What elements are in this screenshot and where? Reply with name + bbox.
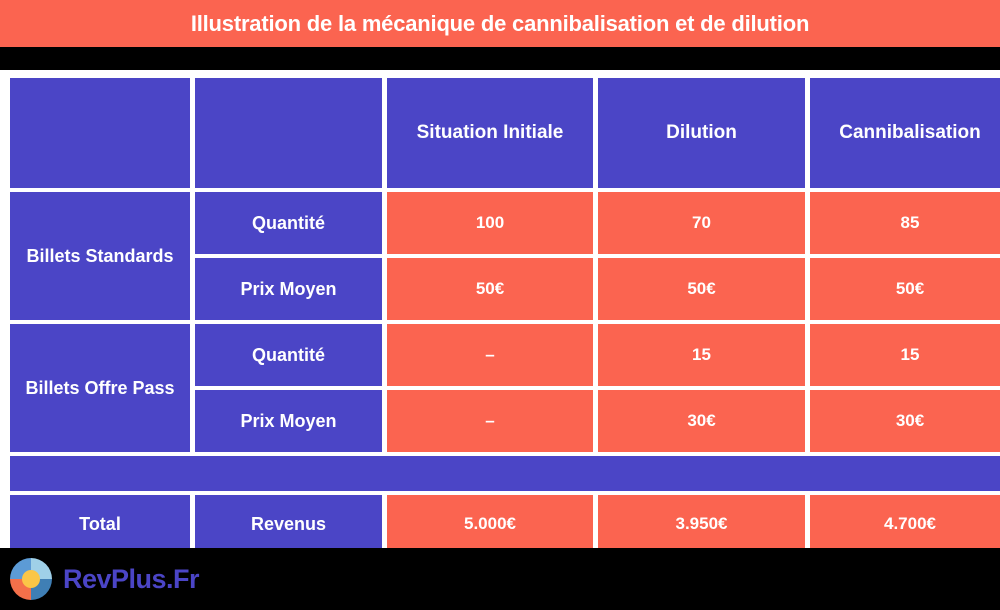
header-situation-initiale: Situation Initiale [387, 78, 593, 188]
header-cannibalisation: Cannibalisation [810, 78, 1000, 188]
page-title: Illustration de la mécanique de cannibal… [191, 11, 809, 37]
value-pass-quantite-dilution: 15 [598, 324, 805, 386]
value-standards-quantite-situation-initiale: 100 [387, 192, 593, 254]
value-standards-prix-dilution: 50€ [598, 258, 805, 320]
metric-label-prix-moyen-pass: Prix Moyen [195, 390, 382, 452]
section-separator-bar [10, 456, 1000, 491]
value-pass-prix-cannibalisation: 30€ [810, 390, 1000, 452]
total-label: Total [10, 495, 190, 553]
pie-chart-logo-icon [10, 558, 52, 600]
page-root: Illustration de la mécanique de cannibal… [0, 0, 1000, 610]
footer-bar: RevPlus.Fr [0, 548, 1000, 610]
metric-label-quantite-standards: Quantité [195, 192, 382, 254]
group-label-billets-standards: Billets Standards [10, 192, 190, 320]
header-corner-b [195, 78, 382, 188]
total-cannibalisation: 4.700€ [810, 495, 1000, 553]
value-pass-prix-dilution: 30€ [598, 390, 805, 452]
value-standards-prix-cannibalisation: 50€ [810, 258, 1000, 320]
value-pass-quantite-situation-initiale: – [387, 324, 593, 386]
group-label-billets-offre-pass: Billets Offre Pass [10, 324, 190, 452]
brand-wordmark: RevPlus.Fr [63, 564, 199, 595]
value-standards-prix-situation-initiale: 50€ [387, 258, 593, 320]
header-corner-a [10, 78, 190, 188]
metric-label-quantite-pass: Quantité [195, 324, 382, 386]
comparison-table: Situation Initiale Dilution Cannibalisat… [10, 78, 990, 538]
title-banner: Illustration de la mécanique de cannibal… [0, 0, 1000, 47]
value-pass-prix-situation-initiale: – [387, 390, 593, 452]
logo-center-dot [22, 570, 40, 588]
total-situation-initiale: 5.000€ [387, 495, 593, 553]
total-dilution: 3.950€ [598, 495, 805, 553]
value-pass-quantite-cannibalisation: 15 [810, 324, 1000, 386]
value-standards-quantite-cannibalisation: 85 [810, 192, 1000, 254]
value-standards-quantite-dilution: 70 [598, 192, 805, 254]
header-dilution: Dilution [598, 78, 805, 188]
total-metric-label: Revenus [195, 495, 382, 553]
metric-label-prix-moyen-standards: Prix Moyen [195, 258, 382, 320]
table-container: Situation Initiale Dilution Cannibalisat… [0, 70, 1000, 548]
